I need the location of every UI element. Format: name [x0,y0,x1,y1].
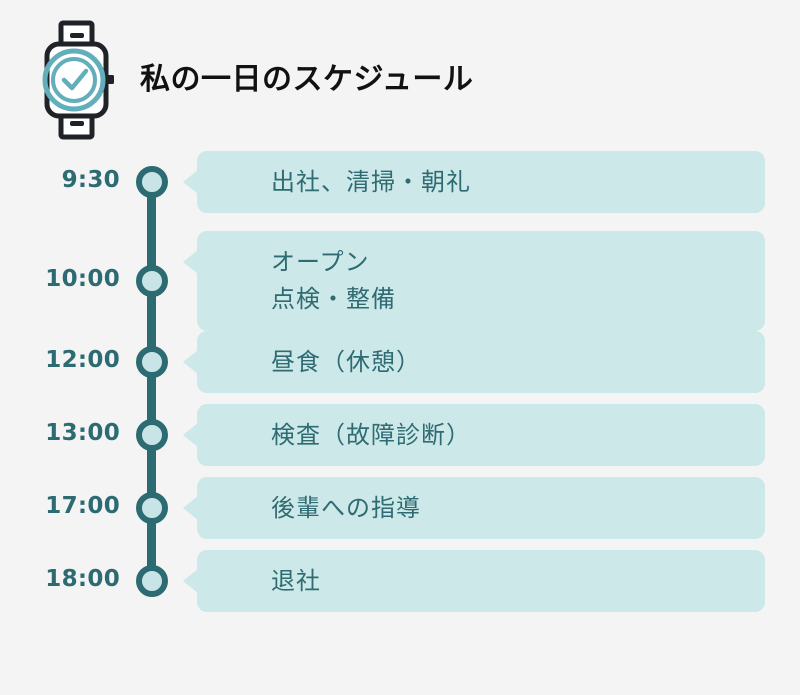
timeline: 9:30出社、清掃・朝礼10:00オープン点検・整備12:00昼食（休憩）13:… [0,140,800,640]
timeline-event-bubble[interactable]: 昼食（休憩） [197,331,765,393]
timeline-event-bubble[interactable]: オープン点検・整備 [197,231,765,331]
timeline-node-dot[interactable] [136,492,168,524]
event-text-line: 昼食（休憩） [271,344,765,381]
watch-icon [34,20,124,140]
event-text-line: 検査（故障診断） [271,417,765,454]
timeline-node-dot[interactable] [136,265,168,297]
event-text-line: オープン [271,244,765,281]
timeline-node-dot[interactable] [136,346,168,378]
timeline-event-bubble[interactable]: 後輩への指導 [197,477,765,539]
event-text-line: 出社、清掃・朝礼 [271,164,765,201]
timeline-node-dot[interactable] [136,565,168,597]
page-header: 私の一日のスケジュール [0,0,800,150]
time-label: 13:00 [0,420,120,446]
page-title: 私の一日のスケジュール [140,58,473,102]
time-label: 10:00 [0,266,120,292]
timeline-node-dot[interactable] [136,419,168,451]
timeline-event-bubble[interactable]: 検査（故障診断） [197,404,765,466]
time-label: 12:00 [0,347,120,373]
timeline-event-bubble[interactable]: 出社、清掃・朝礼 [197,151,765,213]
timeline-node-dot[interactable] [136,166,168,198]
time-label: 17:00 [0,493,120,519]
time-label: 9:30 [0,167,120,193]
event-text-line: 点検・整備 [271,281,765,318]
event-text-line: 退社 [271,563,765,600]
time-label: 18:00 [0,566,120,592]
event-text-line: 後輩への指導 [271,490,765,527]
timeline-event-bubble[interactable]: 退社 [197,550,765,612]
